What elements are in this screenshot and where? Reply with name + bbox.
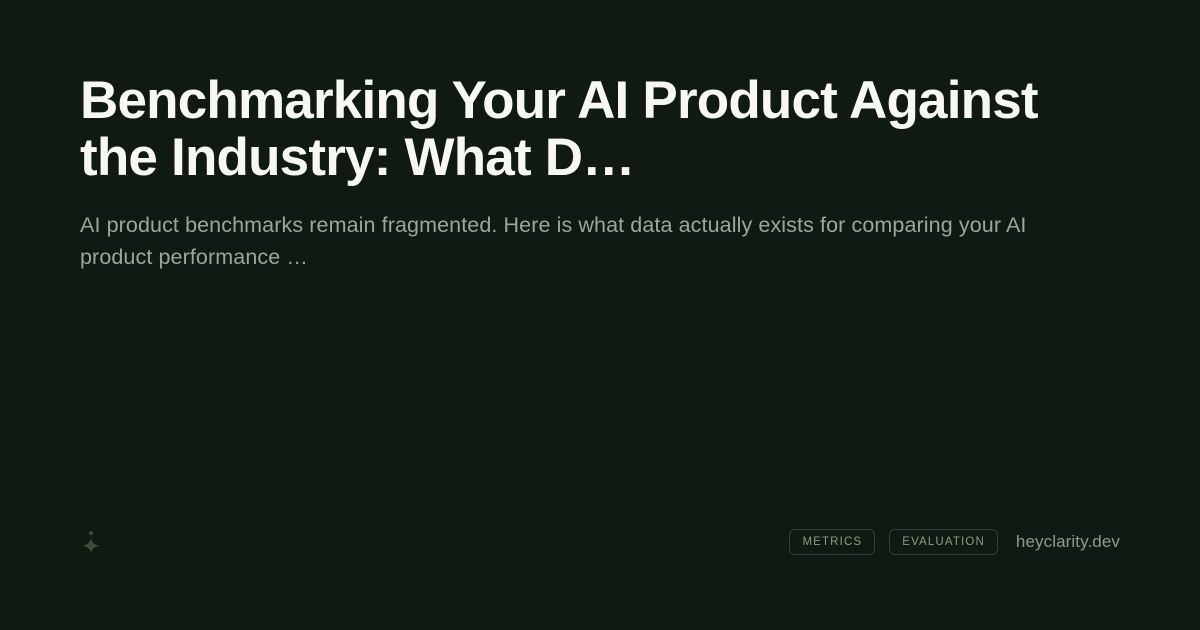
footer-meta: METRICS EVALUATION heyclarity.dev	[789, 529, 1120, 556]
card-footer: METRICS EVALUATION heyclarity.dev	[80, 526, 1120, 558]
social-share-card: Benchmarking Your AI Product Against the…	[0, 0, 1200, 630]
page-subtitle: AI product benchmarks remain fragmented.…	[80, 210, 1095, 272]
tag-evaluation[interactable]: EVALUATION	[889, 529, 998, 556]
site-domain: heyclarity.dev	[1016, 532, 1120, 552]
tag-metrics[interactable]: METRICS	[789, 529, 875, 556]
page-title: Benchmarking Your AI Product Against the…	[80, 72, 1100, 186]
sparkle-icon	[80, 530, 102, 554]
card-content: Benchmarking Your AI Product Against the…	[80, 72, 1120, 273]
brand-logo	[80, 530, 102, 554]
